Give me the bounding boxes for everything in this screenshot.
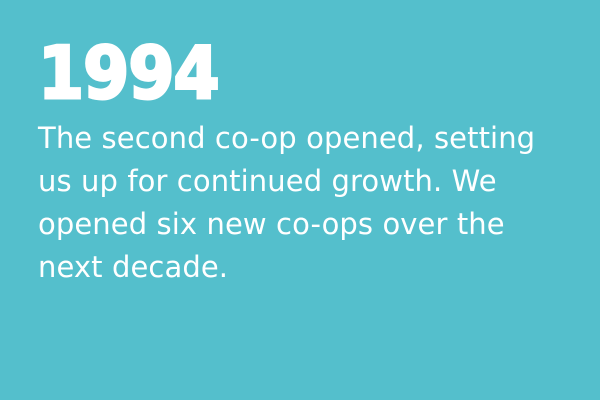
card-content: 1994 The second co-op opened, setting us… xyxy=(38,40,568,289)
heading-block: 1994 xyxy=(38,40,568,106)
year-heading: 1994 xyxy=(38,40,526,106)
body-line-4: next decade. xyxy=(38,246,558,289)
body-line-1: The second co-op opened, setting xyxy=(38,117,558,160)
milestone-card: 1994 The second co-op opened, setting us… xyxy=(0,0,600,400)
body-paragraph: The second co-op opened, setting us up f… xyxy=(38,117,558,289)
body-line-2: us up for continued growth. We xyxy=(38,160,558,203)
body-line-3: opened six new co-ops over the xyxy=(38,203,558,246)
